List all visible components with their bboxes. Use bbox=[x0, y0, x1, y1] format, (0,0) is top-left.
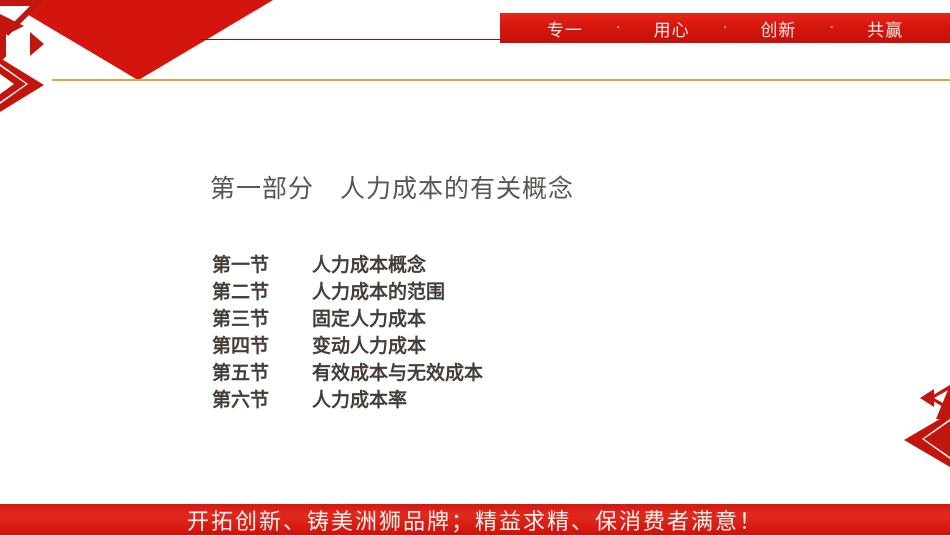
slogan-separator-3: · bbox=[829, 20, 834, 37]
section-number: 第一节 bbox=[212, 250, 312, 277]
section-title: 人力成本概念 bbox=[312, 250, 426, 277]
slogan-word-4: 共赢 bbox=[867, 16, 903, 41]
section-number: 第三节 bbox=[212, 304, 312, 331]
footer-banner: 开拓创新、铸美洲狮品牌；精益求精、保消费者满意！ bbox=[0, 504, 950, 535]
slide-canvas: 专一 · 用心 · 创新 · 共赢 第一部分 人力成本的有关概念 第一节 人力成… bbox=[0, 0, 950, 535]
large-red-diagonal-wedge-icon bbox=[0, 0, 290, 90]
triangle-cluster-left-pointing-icon bbox=[890, 385, 950, 470]
slogan-separator-1: · bbox=[616, 20, 621, 37]
section-title: 有效成本与无效成本 bbox=[312, 358, 483, 385]
section-number: 第四节 bbox=[212, 331, 312, 358]
top-left-decoration-group bbox=[0, 0, 300, 120]
list-item: 第五节 有效成本与无效成本 bbox=[212, 358, 483, 385]
list-item: 第二节 人力成本的范围 bbox=[212, 277, 483, 304]
bottom-right-decoration-group bbox=[890, 385, 950, 470]
section-list: 第一节 人力成本概念 第二节 人力成本的范围 第三节 固定人力成本 第四节 变动… bbox=[212, 250, 483, 412]
thin-gold-rule bbox=[52, 79, 950, 81]
slogan-word-3: 创新 bbox=[760, 16, 796, 41]
triangle-cluster-right-pointing-icon bbox=[0, 0, 62, 120]
page-title: 第一部分 人力成本的有关概念 bbox=[210, 169, 574, 205]
slogan-word-1: 专一 bbox=[547, 16, 583, 41]
section-title: 人力成本的范围 bbox=[312, 277, 445, 304]
footer-banner-text: 开拓创新、铸美洲狮品牌；精益求精、保消费者满意！ bbox=[187, 504, 763, 535]
slogan-word-2: 用心 bbox=[654, 16, 690, 41]
slogan-separator-2: · bbox=[723, 20, 728, 37]
list-item: 第三节 固定人力成本 bbox=[212, 304, 483, 331]
section-number: 第五节 bbox=[212, 358, 312, 385]
section-title: 变动人力成本 bbox=[312, 331, 426, 358]
list-item: 第六节 人力成本率 bbox=[212, 385, 483, 412]
section-number: 第二节 bbox=[212, 277, 312, 304]
list-item: 第四节 变动人力成本 bbox=[212, 331, 483, 358]
section-title: 人力成本率 bbox=[312, 385, 407, 412]
section-number: 第六节 bbox=[212, 385, 312, 412]
list-item: 第一节 人力成本概念 bbox=[212, 250, 483, 277]
slogan-banner: 专一 · 用心 · 创新 · 共赢 bbox=[500, 13, 950, 43]
section-title: 固定人力成本 bbox=[312, 304, 426, 331]
